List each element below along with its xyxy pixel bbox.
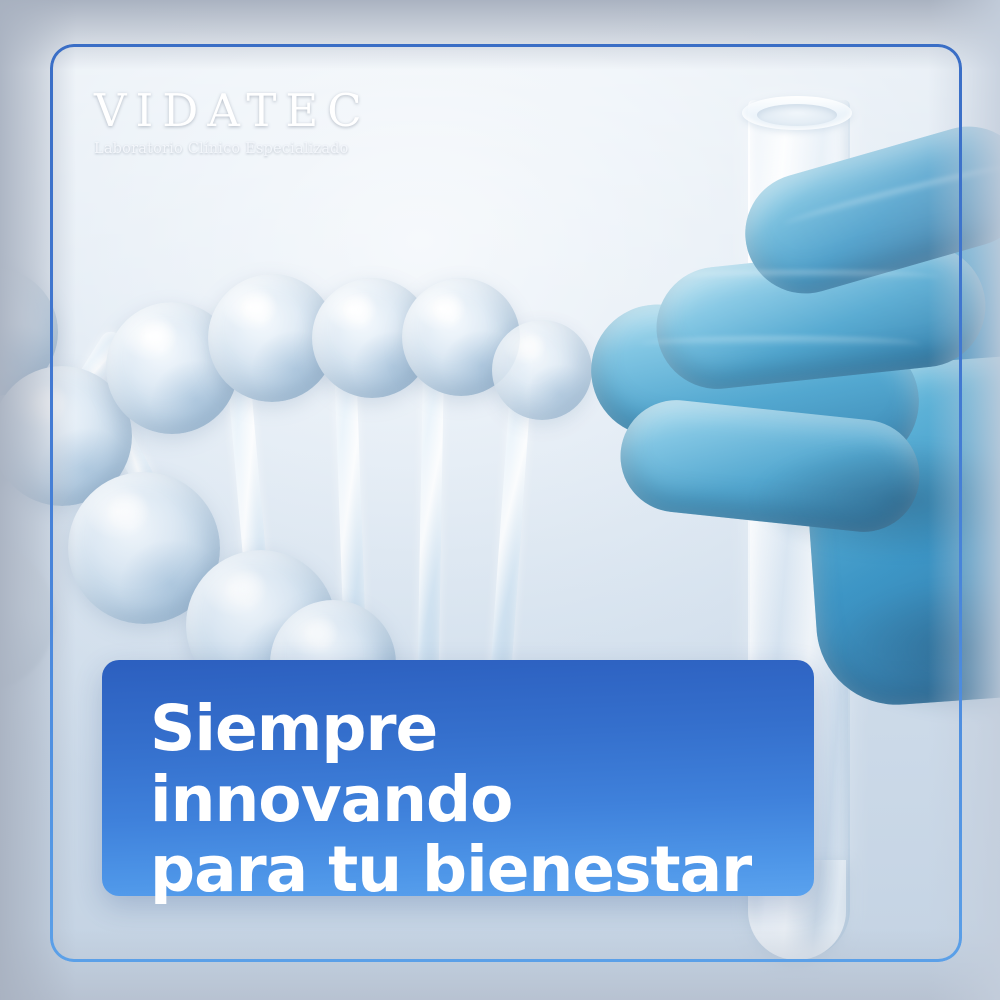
brand-name: VIDATEC xyxy=(94,88,424,133)
headline-line-1: Siempre innovando xyxy=(150,692,512,836)
brand-tagline: Laboratorio Clínico Especializado xyxy=(94,142,424,157)
brand-logo: VIDATEC Laboratorio Clínico Especializad… xyxy=(94,88,424,157)
headline-line-2: para tu bienestar xyxy=(150,835,790,906)
headline-banner: Siempre innovando para tu bienestar xyxy=(102,660,814,896)
social-post-canvas: VIDATEC Laboratorio Clínico Especializad… xyxy=(0,0,1000,1000)
headline-text: Siempre innovando para tu bienestar xyxy=(150,694,790,906)
